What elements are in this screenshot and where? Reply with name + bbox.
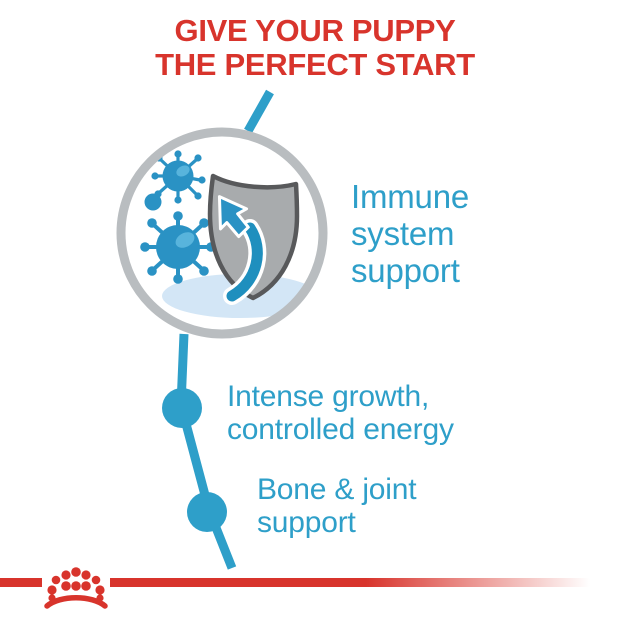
benefit-immune-line-2: system xyxy=(351,215,469,252)
benefit-label-bone: Bone & joint support xyxy=(257,473,416,539)
benefit-growth-line-2: controlled energy xyxy=(227,413,454,446)
benefit-label-immune: Immune system support xyxy=(351,178,469,289)
connector-segment-bottom xyxy=(181,334,232,568)
benefit-growth-line-1: Intense growth, xyxy=(227,380,454,413)
benefit-label-growth: Intense growth, controlled energy xyxy=(227,380,454,446)
node-dot-bone-icon xyxy=(187,492,227,532)
virus-dot-icon xyxy=(145,194,162,211)
benefit-bone-line-2: support xyxy=(257,506,416,539)
connector-segment-top xyxy=(248,92,270,131)
benefit-immune-line-3: support xyxy=(351,252,469,289)
benefit-immune-line-1: Immune xyxy=(351,178,469,215)
promo-card: GIVE YOUR PUPPY THE PERFECT START xyxy=(0,0,630,630)
benefit-bone-line-1: Bone & joint xyxy=(257,473,416,506)
virus-particle-large-icon xyxy=(140,211,216,284)
node-dot-growth-icon xyxy=(162,388,202,428)
royal-canin-crown-icon xyxy=(42,567,110,606)
